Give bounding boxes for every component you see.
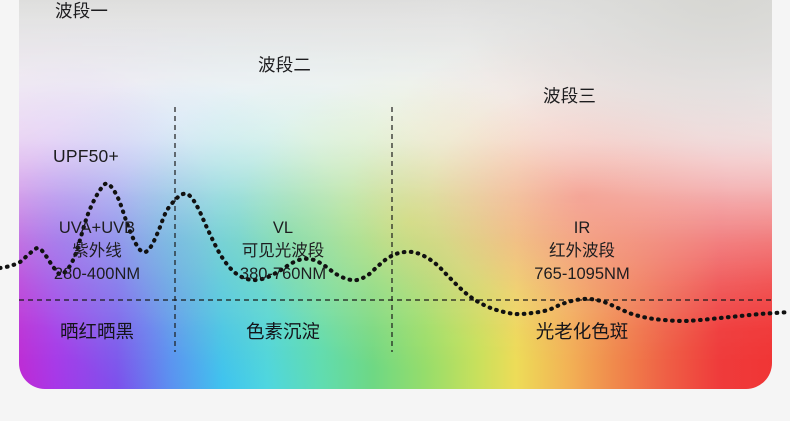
column-ir-chinese: 红外波段 bbox=[482, 240, 682, 263]
column-ir-range: 765-1095NM bbox=[482, 263, 682, 286]
effect-uv: 晒红晒黑 bbox=[7, 323, 187, 342]
column-info-ir: IR 红外波段 765-1095NM bbox=[482, 217, 682, 286]
column-vl-range: 380-760NM bbox=[193, 263, 373, 286]
effect-vl: 色素沉淀 bbox=[193, 323, 373, 342]
effect-ir: 光老化色斑 bbox=[482, 323, 682, 342]
band-title-2: 波段二 bbox=[258, 57, 311, 75]
column-uv-range: 280-400NM bbox=[7, 263, 187, 286]
upf-rating-label: UPF50+ bbox=[53, 148, 119, 166]
infographic-canvas: 波段一 波段二 波段三 UPF50+ UVA+UVB 紫外线 280-400NM… bbox=[0, 0, 790, 421]
column-vl-chinese: 可见光波段 bbox=[193, 240, 373, 263]
band-title-1: 波段一 bbox=[55, 3, 108, 21]
column-ir-name: IR bbox=[482, 217, 682, 240]
column-vl-name: VL bbox=[193, 217, 373, 240]
column-info-uv: UVA+UVB 紫外线 280-400NM bbox=[7, 217, 187, 286]
band-title-3: 波段三 bbox=[543, 88, 596, 106]
column-info-vl: VL 可见光波段 380-760NM bbox=[193, 217, 373, 286]
column-uv-chinese: 紫外线 bbox=[7, 240, 187, 263]
column-uv-name: UVA+UVB bbox=[7, 217, 187, 240]
